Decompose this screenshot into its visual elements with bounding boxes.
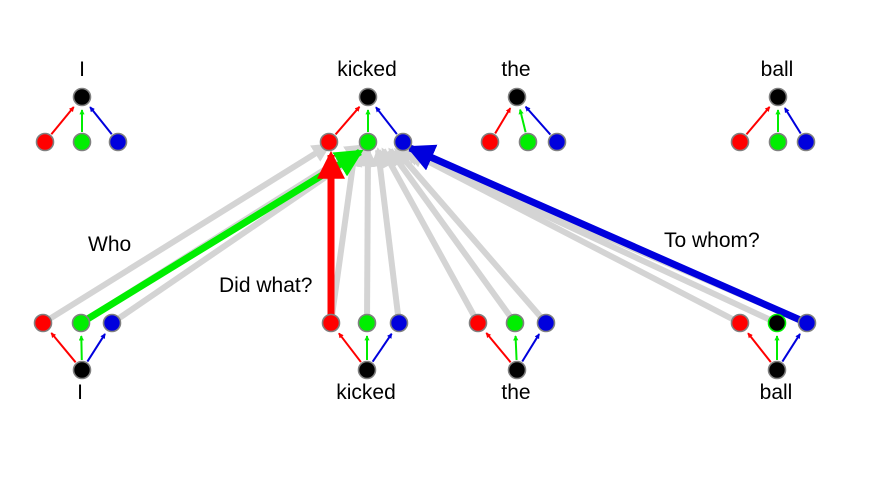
- annotation-label: Who: [88, 233, 131, 257]
- word-internal-arrow-green: [520, 110, 526, 133]
- slot-node-red[interactable]: [35, 315, 52, 332]
- slot-node-red[interactable]: [482, 134, 499, 151]
- word-internal-arrow-green: [81, 336, 82, 360]
- slot-node-blue[interactable]: [798, 134, 815, 151]
- word-internal-arrow-red: [51, 333, 75, 362]
- word-node-kicked[interactable]: [360, 89, 377, 106]
- word-internal-arrow-blue: [785, 108, 801, 133]
- slot-node-blue[interactable]: [538, 315, 555, 332]
- diagram-canvas: IkickedtheballIkickedtheballWhoDid what?…: [0, 0, 875, 484]
- word-internal-arrow-blue: [90, 107, 112, 134]
- slot-node-red[interactable]: [732, 134, 749, 151]
- word-internal-arrow-blue: [376, 107, 397, 134]
- word-node-kicked[interactable]: [359, 362, 376, 379]
- bottom-row-word-label: ball: [760, 381, 793, 405]
- word-internal-arrow-red: [336, 107, 360, 135]
- slot-node-green[interactable]: [73, 315, 90, 332]
- slot-node-blue[interactable]: [104, 315, 121, 332]
- word-node-the[interactable]: [509, 362, 526, 379]
- slot-node-green[interactable]: [770, 134, 787, 151]
- top-row-word-label: kicked: [337, 58, 397, 82]
- word-internal-arrow-green: [516, 336, 517, 360]
- word-internal-arrow-red: [495, 108, 510, 133]
- slot-node-red[interactable]: [732, 315, 749, 332]
- word-internal-arrow-blue: [373, 334, 392, 362]
- slot-node-blue[interactable]: [110, 134, 127, 151]
- slot-node-red[interactable]: [37, 134, 54, 151]
- slot-node-green[interactable]: [769, 315, 786, 332]
- word-internal-arrow-red: [746, 107, 769, 134]
- bottom-row-word-label: I: [77, 381, 83, 405]
- top-row-word-label: I: [79, 58, 85, 82]
- word-internal-arrow-blue: [782, 334, 800, 362]
- slot-node-green[interactable]: [74, 134, 91, 151]
- slot-node-blue[interactable]: [799, 315, 816, 332]
- slot-node-green[interactable]: [359, 315, 376, 332]
- word-node-i[interactable]: [74, 362, 91, 379]
- slot-node-green[interactable]: [507, 315, 524, 332]
- word-internal-arrow-blue: [522, 334, 539, 361]
- slot-node-blue[interactable]: [391, 315, 408, 332]
- word-node-i[interactable]: [74, 89, 91, 106]
- word-internal-arrow-red: [339, 333, 361, 362]
- word-internal-arrow-blue: [87, 334, 105, 362]
- slot-node-blue[interactable]: [395, 134, 412, 151]
- slot-node-green[interactable]: [360, 134, 377, 151]
- word-internal-arrow-red: [748, 333, 771, 362]
- word-node-ball[interactable]: [770, 89, 787, 106]
- bottom-row-word-label: kicked: [336, 381, 396, 405]
- bottom-row-word-label: the: [501, 381, 530, 405]
- word-node-the[interactable]: [509, 89, 526, 106]
- gray-attention-edge: [367, 150, 368, 323]
- word-node-ball[interactable]: [769, 362, 786, 379]
- annotation-label: To whom?: [664, 229, 760, 253]
- slot-node-red[interactable]: [470, 315, 487, 332]
- word-internal-arrow-red: [51, 107, 73, 134]
- top-row-word-label: the: [501, 58, 530, 82]
- slot-node-green[interactable]: [520, 134, 537, 151]
- slot-node-red[interactable]: [323, 315, 340, 332]
- slot-node-red[interactable]: [321, 134, 338, 151]
- top-row-word-label: ball: [761, 58, 794, 82]
- gray-attention-edge: [331, 150, 355, 323]
- word-internal-arrow-red: [486, 333, 510, 362]
- annotation-label: Did what?: [219, 274, 312, 298]
- slot-node-blue[interactable]: [549, 134, 566, 151]
- word-internal-arrow-blue: [526, 107, 551, 135]
